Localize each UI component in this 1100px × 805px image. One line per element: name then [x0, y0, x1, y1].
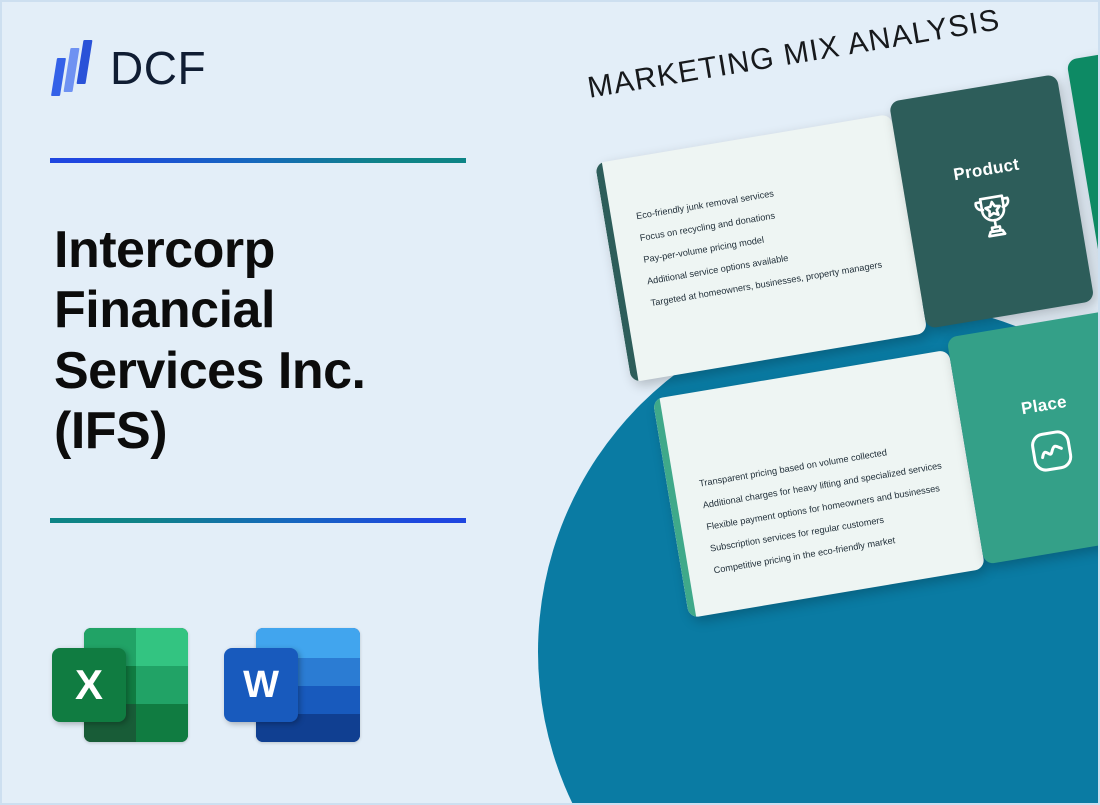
- word-letter-tile: W: [224, 648, 298, 722]
- divider-bottom: [50, 518, 466, 523]
- file-format-icons: X W: [50, 620, 362, 750]
- page-title: Intercorp Financial Services Inc. (IFS): [54, 220, 484, 461]
- left-panel: DCF Intercorp Financial Services Inc. (I…: [2, 2, 542, 805]
- place-label: Place: [1020, 392, 1069, 419]
- marketing-mix-graphic: MARKETING MIX ANALYSIS Eco-friendly junk…: [492, 2, 1100, 805]
- card-accent-stripe: [595, 162, 639, 382]
- chart-wave-icon: [1019, 419, 1083, 483]
- page-canvas: DCF Intercorp Financial Services Inc. (I…: [0, 0, 1100, 805]
- excel-letter-tile: X: [52, 648, 126, 722]
- logo-wordmark: DCF: [110, 45, 206, 91]
- product-label: Product: [952, 155, 1021, 186]
- three-bars-logo-icon: [50, 40, 96, 96]
- divider-top: [50, 158, 466, 163]
- product-bullets-card: Eco-friendly junk removal services Focus…: [595, 114, 928, 382]
- word-file-icon[interactable]: W: [222, 620, 362, 750]
- excel-file-icon[interactable]: X: [50, 620, 190, 750]
- trophy-icon: [962, 183, 1026, 247]
- dcf-logo[interactable]: DCF: [50, 40, 206, 96]
- product-label-card[interactable]: Product: [889, 74, 1095, 329]
